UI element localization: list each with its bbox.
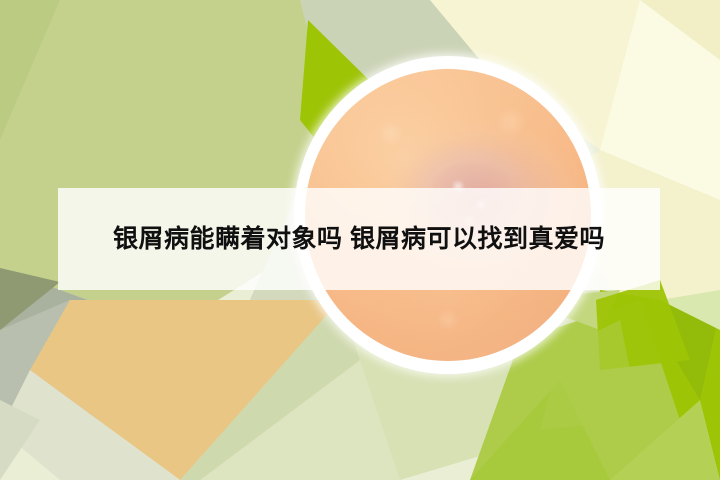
cover-image: 银屑病能瞒着对象吗 银屑病可以找到真爱吗 <box>0 0 720 480</box>
caption-band: 银屑病能瞒着对象吗 银屑病可以找到真爱吗 <box>58 188 660 290</box>
caption-title: 银屑病能瞒着对象吗 银屑病可以找到真爱吗 <box>113 227 605 252</box>
